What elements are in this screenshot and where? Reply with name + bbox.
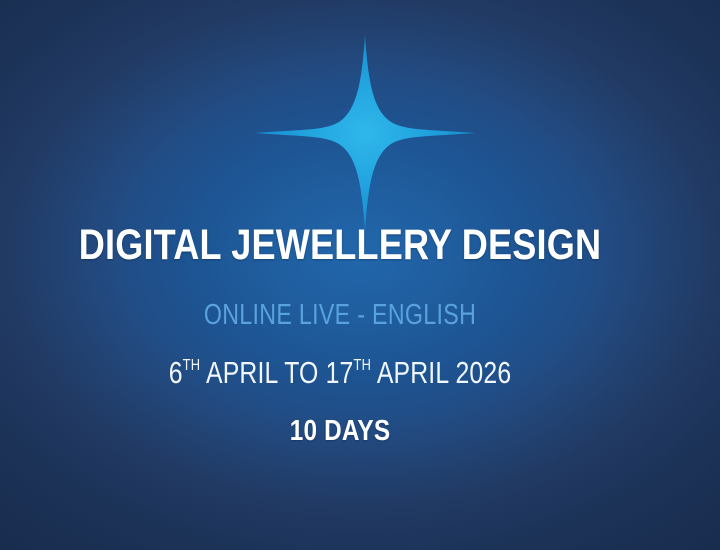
start-month: APRIL — [206, 355, 278, 390]
date-connector: TO — [284, 355, 318, 390]
four-pointed-sparkle-icon — [253, 33, 477, 233]
course-duration-label: 10 DAYS — [54, 415, 625, 447]
start-ordinal-suffix: TH — [183, 356, 201, 374]
end-month: APRIL — [377, 355, 449, 390]
promo-card: DIGITAL JEWELLERY DESIGN ONLINE LIVE - E… — [0, 0, 720, 550]
end-ordinal-suffix: TH — [353, 356, 371, 374]
course-dates: 6TH APRIL TO 17TH APRIL 2026 — [68, 356, 612, 390]
start-day: 6 — [169, 355, 183, 390]
end-day: 17 — [326, 355, 354, 390]
course-year: 2026 — [455, 355, 511, 390]
delivery-mode-label: ONLINE LIVE - ENGLISH — [68, 299, 612, 331]
page-title: DIGITAL JEWELLERY DESIGN — [54, 222, 625, 268]
